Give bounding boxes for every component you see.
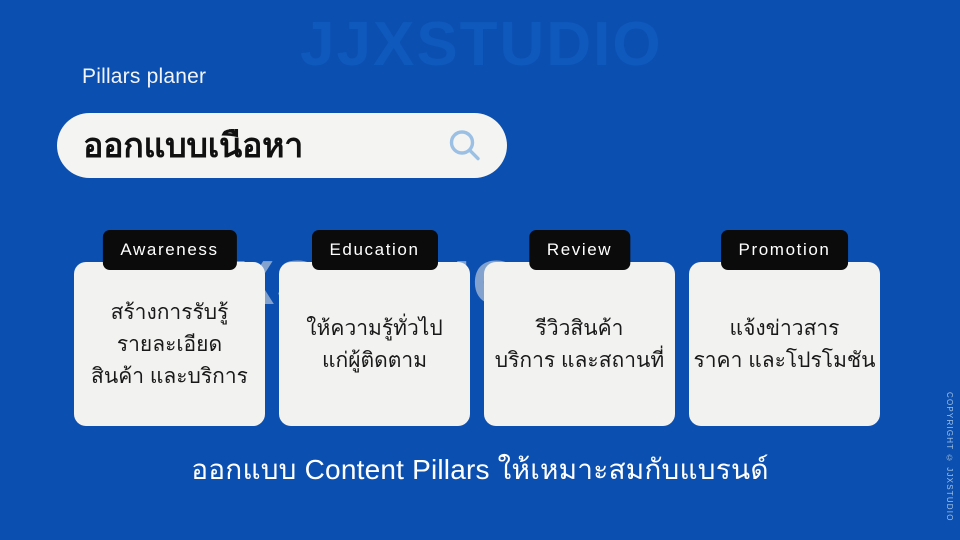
pillar-line: รายละเอียด: [117, 329, 222, 361]
pillar-line: ให้ความรู้ทั่วไป: [306, 313, 442, 345]
pillar-line: แจ้งข่าวสาร: [730, 313, 840, 345]
pillar-badge-promotion[interactable]: Promotion: [721, 230, 849, 270]
search-bar[interactable]: ออกแบบเนื้อหา: [57, 113, 507, 178]
pillar-line: ราคา และโปรโมชัน: [693, 345, 875, 377]
pillar-badge-label: Education: [329, 240, 419, 260]
page-title: Pillars planer: [82, 65, 206, 89]
pillar-card-education[interactable]: ให้ความรู้ทั่วไป แก่ผู้ติดตาม: [279, 262, 470, 426]
pillar-badge-review[interactable]: Review: [529, 230, 630, 270]
search-input[interactable]: ออกแบบเนื้อหา: [83, 129, 445, 163]
pillar-promotion[interactable]: Promotion แจ้งข่าวสาร ราคา และโปรโมชัน: [689, 230, 880, 426]
pillar-badge-label: Promotion: [739, 240, 831, 260]
pillar-line: สินค้า และบริการ: [91, 361, 248, 393]
pillar-card-review[interactable]: รีวิวสินค้า บริการ และสถานที่: [484, 262, 675, 426]
pillar-awareness[interactable]: Awareness สร้างการรับรู้ รายละเอียด สินค…: [74, 230, 265, 426]
pillar-badge-label: Awareness: [120, 240, 218, 260]
pillar-line: บริการ และสถานที่: [495, 345, 664, 377]
watermark-top: JJXSTUDIO: [300, 9, 663, 80]
pillar-line: แก่ผู้ติดตาม: [322, 345, 427, 377]
slide-canvas: JJXSTUDIO JJXSTUDIO Pillars planer ออกแบ…: [0, 0, 960, 540]
search-icon[interactable]: [445, 126, 485, 166]
copyright-notice: COPYRIGHT © JJXSTUDIO: [945, 392, 954, 522]
slide-caption: ออกแบบ Content Pillars ให้เหมาะสมกับแบรน…: [0, 448, 960, 492]
pillar-badge-awareness[interactable]: Awareness: [102, 230, 236, 270]
pillar-badge-label: Review: [547, 240, 612, 260]
pillar-card-promotion[interactable]: แจ้งข่าวสาร ราคา และโปรโมชัน: [689, 262, 880, 426]
pillar-badge-education[interactable]: Education: [311, 230, 437, 270]
pillar-card-awareness[interactable]: สร้างการรับรู้ รายละเอียด สินค้า และบริก…: [74, 262, 265, 426]
pillars-row: Awareness สร้างการรับรู้ รายละเอียด สินค…: [74, 230, 880, 426]
pillar-education[interactable]: Education ให้ความรู้ทั่วไป แก่ผู้ติดตาม: [279, 230, 470, 426]
pillar-review[interactable]: Review รีวิวสินค้า บริการ และสถานที่: [484, 230, 675, 426]
pillar-line: รีวิวสินค้า: [536, 313, 624, 345]
pillar-line: สร้างการรับรู้: [111, 297, 229, 329]
